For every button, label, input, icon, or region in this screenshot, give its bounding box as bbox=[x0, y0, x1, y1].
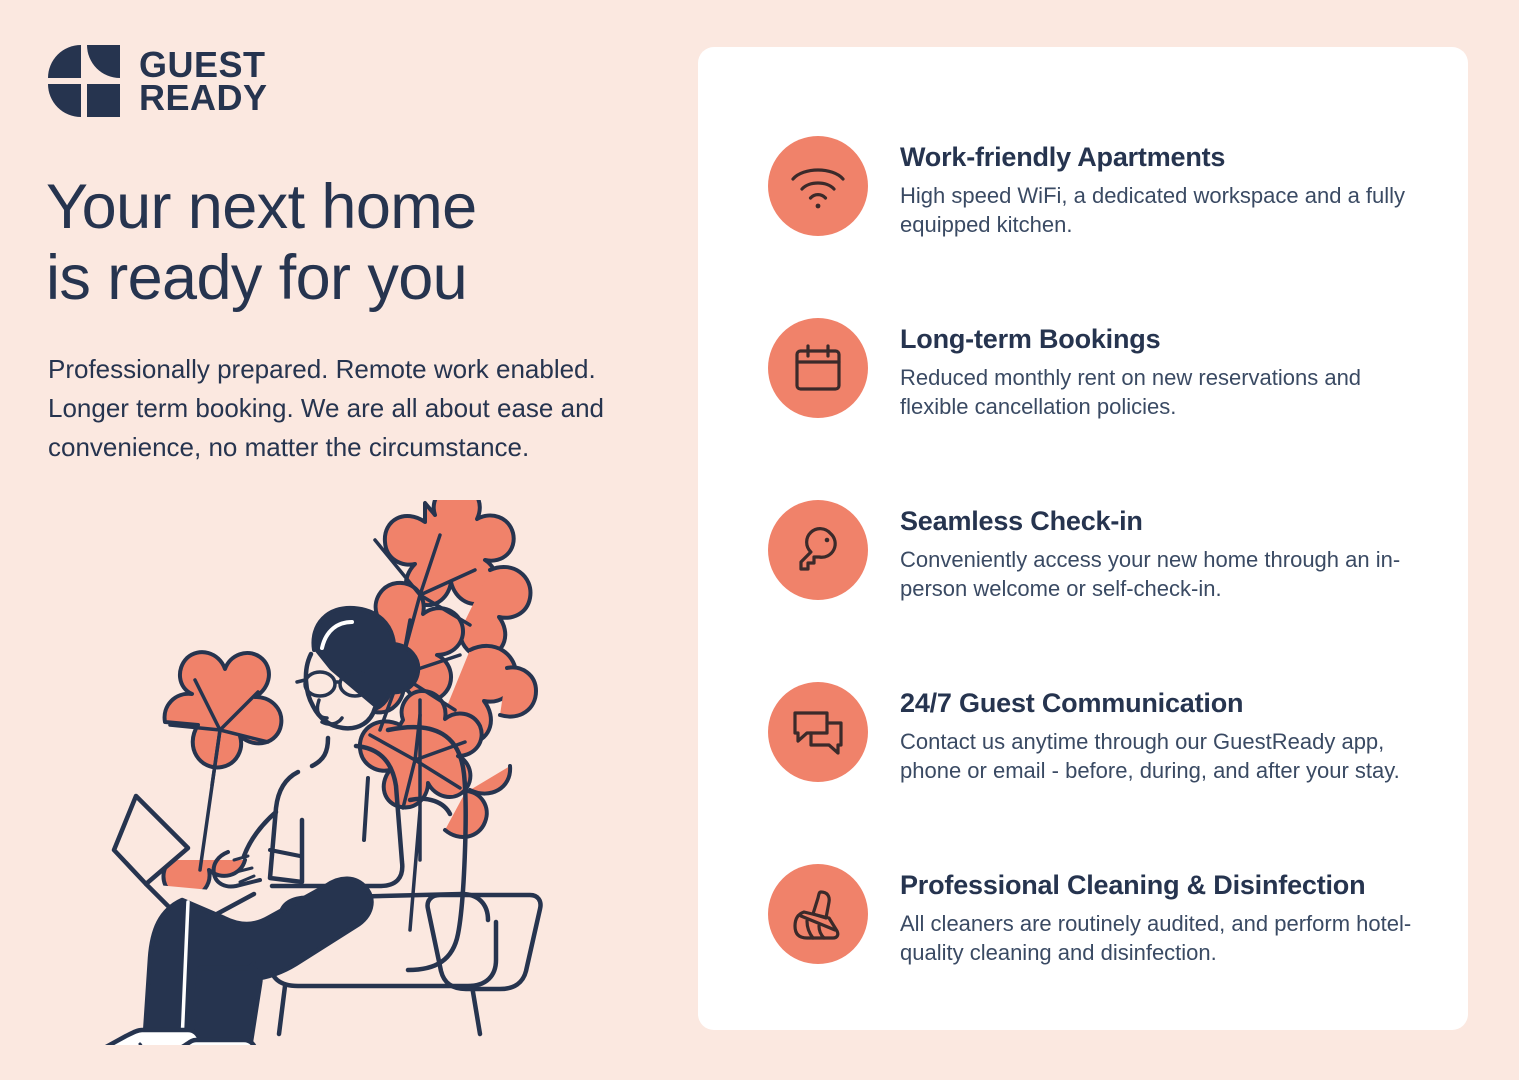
feature-description: Contact us anytime through our GuestRead… bbox=[900, 727, 1428, 785]
hero-column: GUEST READY Your next home is ready for … bbox=[0, 0, 700, 1080]
headline-line-2: is ready for you bbox=[46, 243, 467, 313]
calendar-icon bbox=[768, 318, 868, 418]
feature-title: Seamless Check-in bbox=[900, 506, 1428, 537]
wifi-icon bbox=[768, 136, 868, 236]
feature-item-professional-cleaning: Professional Cleaning & Disinfection All… bbox=[768, 860, 1428, 967]
feature-description: Conveniently access your new home throug… bbox=[900, 545, 1428, 603]
feature-text: Long-term Bookings Reduced monthly rent … bbox=[900, 314, 1428, 421]
key-icon bbox=[768, 500, 868, 600]
broom-icon bbox=[768, 864, 868, 964]
features-card: Work-friendly Apartments High speed WiFi… bbox=[698, 47, 1468, 1030]
feature-text: Professional Cleaning & Disinfection All… bbox=[900, 860, 1428, 967]
chat-bubbles-icon bbox=[768, 682, 868, 782]
guestready-quadrant-logo-icon bbox=[48, 45, 120, 117]
feature-item-long-term-bookings: Long-term Bookings Reduced monthly rent … bbox=[768, 314, 1428, 421]
brand-wordmark-line2: READY bbox=[139, 81, 268, 114]
feature-text: 24/7 Guest Communication Contact us anyt… bbox=[900, 678, 1428, 785]
hero-illustration bbox=[70, 500, 650, 1045]
feature-description: Reduced monthly rent on new reservations… bbox=[900, 363, 1428, 421]
feature-description: All cleaners are routinely audited, and … bbox=[900, 909, 1428, 967]
feature-title: 24/7 Guest Communication bbox=[900, 688, 1428, 719]
feature-text: Seamless Check-in Conveniently access yo… bbox=[900, 496, 1428, 603]
brand-logo: GUEST READY bbox=[48, 45, 268, 117]
brand-wordmark: GUEST READY bbox=[139, 48, 268, 114]
hero-subheading: Professionally prepared. Remote work ena… bbox=[48, 350, 628, 467]
feature-item-guest-communication: 24/7 Guest Communication Contact us anyt… bbox=[768, 678, 1428, 785]
feature-text: Work-friendly Apartments High speed WiFi… bbox=[900, 132, 1428, 239]
page-title: Your next home is ready for you bbox=[46, 172, 666, 313]
headline-line-1: Your next home bbox=[46, 172, 477, 242]
feature-title: Long-term Bookings bbox=[900, 324, 1428, 355]
feature-title: Work-friendly Apartments bbox=[900, 142, 1428, 173]
feature-description: High speed WiFi, a dedicated workspace a… bbox=[900, 181, 1428, 239]
feature-title: Professional Cleaning & Disinfection bbox=[900, 870, 1428, 901]
feature-list: Work-friendly Apartments High speed WiFi… bbox=[768, 132, 1428, 967]
feature-item-seamless-check-in: Seamless Check-in Conveniently access yo… bbox=[768, 496, 1428, 603]
feature-item-work-friendly-apartments: Work-friendly Apartments High speed WiFi… bbox=[768, 132, 1428, 239]
